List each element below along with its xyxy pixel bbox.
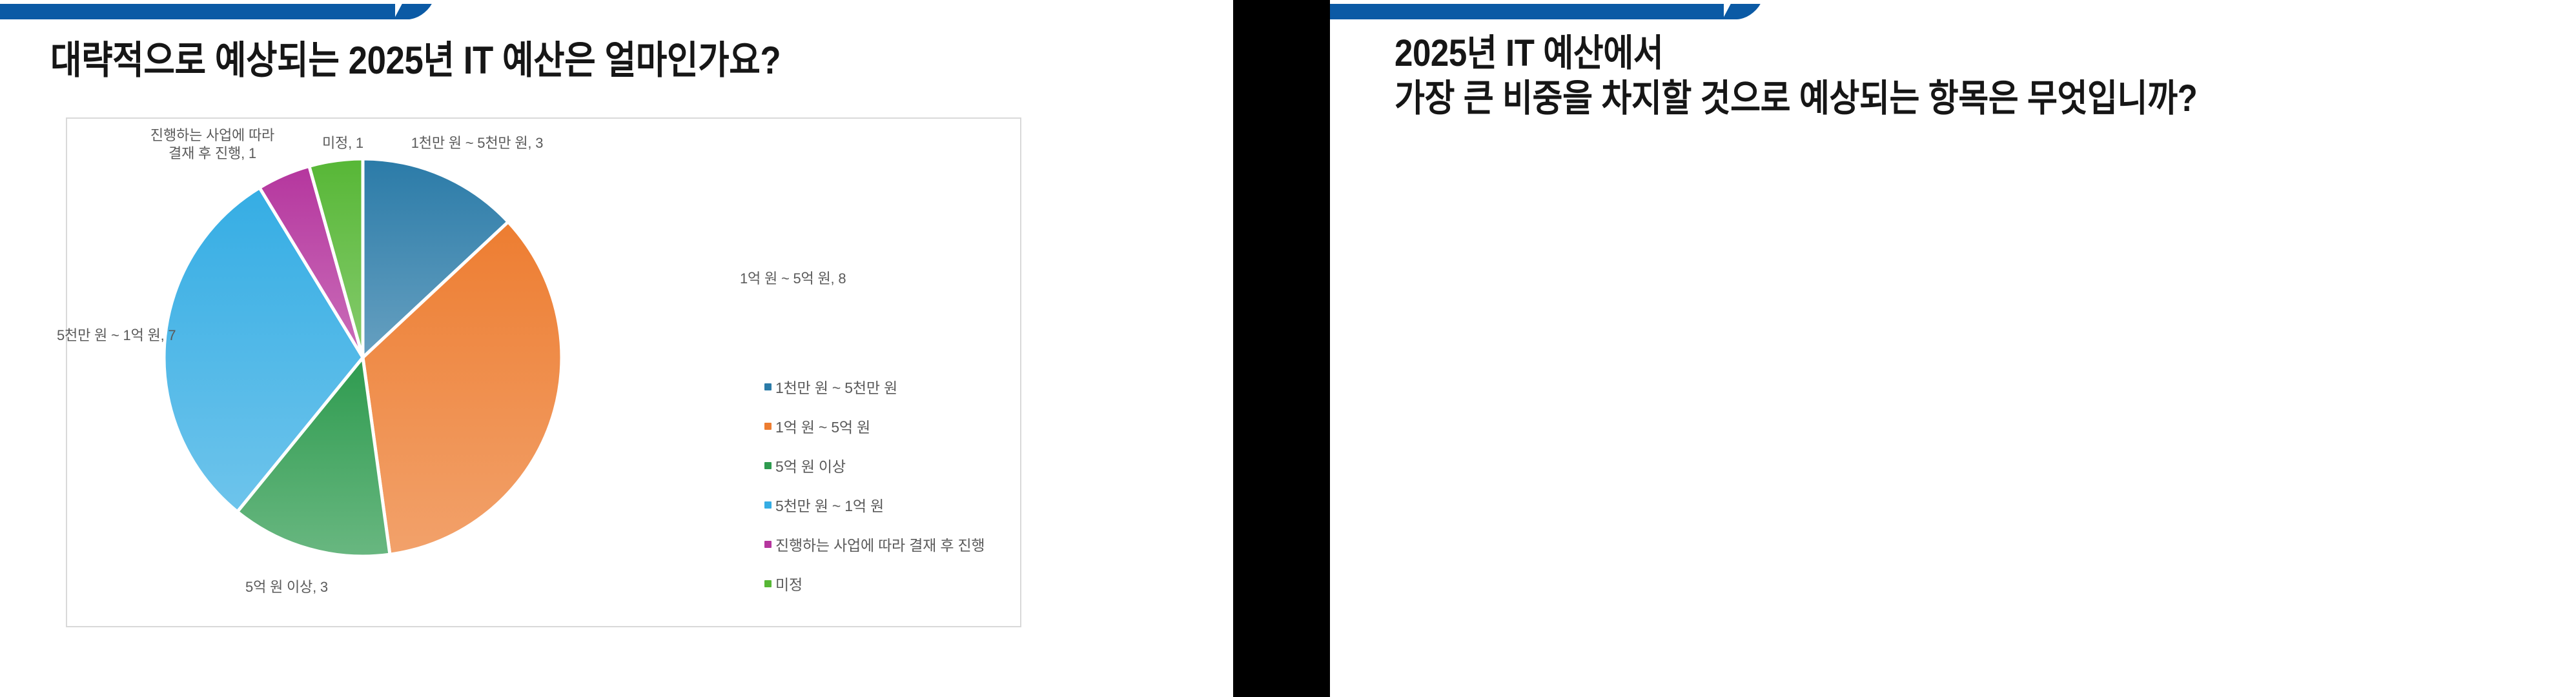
- legend-item[interactable]: 1천만 원 ~ 5천만 원: [764, 376, 985, 398]
- legend-label: 1천만 원 ~ 5천만 원: [775, 376, 897, 398]
- legend-swatch-icon: [764, 423, 772, 430]
- header-ribbon-left: [0, 4, 395, 19]
- legend-item[interactable]: 5억 원 이상: [764, 454, 985, 476]
- presentation-stage: 대략적으로 예상되는 2025년 IT 예산은 얼마인가요? 1천만 원 ~ 5…: [0, 0, 2576, 697]
- legend-label: 1억 원 ~ 5억 원: [775, 415, 870, 437]
- pie-chart-left: [163, 157, 563, 558]
- slice-label-1천만원-5천만원: 1천만 원 ~ 5천만 원, 3: [374, 134, 580, 152]
- slice-label-5억원이상: 5억 원 이상, 3: [177, 578, 396, 596]
- slice-label-1억원-5억원: 1억 원 ~ 5억 원, 8: [740, 270, 959, 288]
- slice-label-미정: 미정, 1: [294, 134, 391, 152]
- pie-svg-left: [163, 157, 563, 558]
- legend-label: 미정: [775, 572, 802, 594]
- legend-label: 5천만 원 ~ 1억 원: [775, 494, 884, 516]
- legend-label: 5억 원 이상: [775, 454, 846, 476]
- legend-swatch-icon: [764, 383, 772, 390]
- slice-label-5천만원-1억원: 5천만 원 ~ 1억 원, 7: [57, 327, 276, 345]
- page-title-right: 2025년 IT 예산에서 가장 큰 비중을 차지할 것으로 예상되는 항목은 …: [1395, 31, 2197, 121]
- slice-label-진행사업결재후진행: 진행하는 사업에 따라 결재 후 진행, 1: [106, 126, 319, 162]
- legend-swatch-icon: [764, 462, 772, 469]
- legend-item[interactable]: 진행하는 사업에 따라 결재 후 진행: [764, 533, 985, 555]
- slide-right: 2025년 IT 예산에서 가장 큰 비중을 차지할 것으로 예상되는 항목은 …: [1330, 0, 2576, 697]
- legend-item[interactable]: 미정: [764, 572, 985, 594]
- legend-swatch-icon: [764, 580, 772, 587]
- slide-left: 대략적으로 예상되는 2025년 IT 예산은 얼마인가요? 1천만 원 ~ 5…: [0, 0, 1233, 697]
- header-ribbon-right: [1330, 4, 1724, 19]
- legend-swatch-icon: [764, 501, 772, 509]
- legend-label: 진행하는 사업에 따라 결재 후 진행: [775, 533, 985, 555]
- slide-divider: [1233, 0, 1330, 697]
- legend-item[interactable]: 1억 원 ~ 5억 원: [764, 415, 985, 437]
- legend-swatch-icon: [764, 541, 772, 548]
- page-title-left: 대략적으로 예상되는 2025년 IT 예산은 얼마인가요?: [50, 37, 781, 84]
- legend-item[interactable]: 5천만 원 ~ 1억 원: [764, 494, 985, 516]
- chart-legend-left: 1천만 원 ~ 5천만 원 1억 원 ~ 5억 원 5억 원 이상 5천만 원 …: [764, 376, 985, 612]
- chart-panel-left: 1천만 원 ~ 5천만 원, 3 1억 원 ~ 5억 원, 8 5억 원 이상,…: [66, 117, 1021, 627]
